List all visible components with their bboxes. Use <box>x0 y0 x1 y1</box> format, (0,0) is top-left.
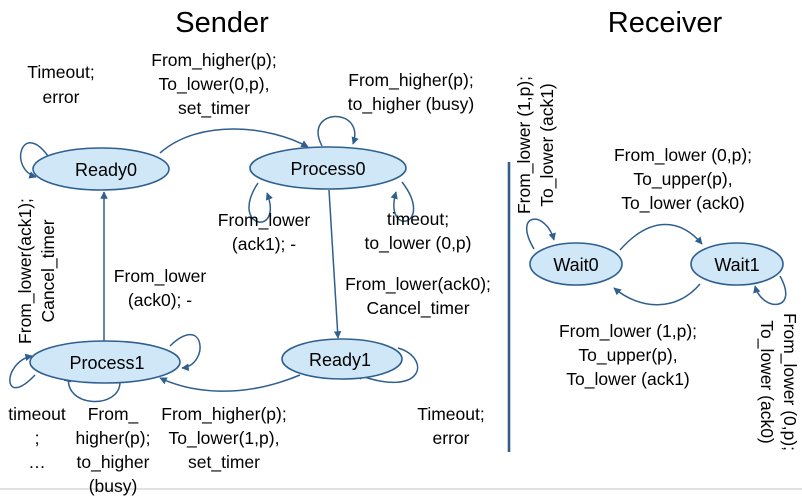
svg-text:To_lower(1,p),: To_lower(1,p), <box>169 428 280 449</box>
svg-text:To_lower (ack0): To_lower (ack0) <box>756 320 777 444</box>
svg-text:to_higher: to_higher <box>77 452 150 473</box>
svg-text:to_lower (0,p): to_lower (0,p) <box>365 233 472 254</box>
svg-text:From_lower (0,p);: From_lower (0,p); <box>779 313 800 451</box>
state-label-wait1: Wait1 <box>714 255 759 275</box>
edge-label-process1-self-left: timeout ; … <box>8 404 66 472</box>
svg-text:From_lower (1,p);: From_lower (1,p); <box>559 321 697 342</box>
arrow-ready1-to-process1 <box>160 375 300 391</box>
svg-text:From_lower(ack0);: From_lower(ack0); <box>345 274 491 295</box>
svg-text:set_timer: set_timer <box>188 452 260 473</box>
slide-canvas: Sender Receiver <box>0 0 802 501</box>
arrow-wait1-to-wait0 <box>614 284 700 305</box>
svg-text:To_upper(p),: To_upper(p), <box>633 169 732 190</box>
svg-text:To_lower (ack1): To_lower (ack1) <box>566 369 690 390</box>
arrow-process0-to-ready1 <box>329 190 338 338</box>
svg-text:timeout;: timeout; <box>387 209 449 229</box>
edge-label-process1-to-ready0-rotated: From_lower(ack1); Cancel_timer <box>15 198 59 344</box>
state-label-process1: Process1 <box>69 353 144 373</box>
edge-label-wait0-to-wait1: From_lower (0,p); To_upper(p), To_lower … <box>614 145 752 214</box>
edge-label-process1-to-ready0: From_lower (ack0); - <box>114 266 207 310</box>
svg-text:(ack1); -: (ack1); - <box>232 234 296 254</box>
edge-label-ready1-self: Timeout; error <box>417 404 484 448</box>
svg-text:Timeout;: Timeout; <box>417 404 484 424</box>
edge-label-wait1-self-rotated: From_lower (0,p); To_lower (ack0) <box>756 313 800 451</box>
svg-text:timeout: timeout <box>8 404 66 424</box>
svg-text:(busy): (busy) <box>89 476 138 496</box>
edge-label-ready0-to-process0: From_higher(p); To_lower(0,p), set_timer <box>151 50 276 119</box>
edge-label-process0-to-ready1: From_lower(ack0); Cancel_timer <box>345 274 491 319</box>
edge-label-process0-self-left: From_lower (ack1); - <box>218 210 311 254</box>
edge-label-ready1-to-process1: From_higher(p); To_lower(1,p), set_timer <box>161 404 286 473</box>
state-node-process1[interactable]: Process1 <box>30 341 180 383</box>
svg-text:higher(p);: higher(p); <box>76 428 151 448</box>
svg-text:From_higher(p);: From_higher(p); <box>161 404 286 425</box>
svg-text:error: error <box>43 87 80 107</box>
edge-label-ready0-self: Timeout; error <box>27 62 94 107</box>
svg-text:From_lower(ack1);: From_lower(ack1); <box>15 198 36 344</box>
svg-text:To_upper(p),: To_upper(p), <box>578 345 677 366</box>
state-label-wait0: Wait0 <box>553 255 598 275</box>
state-node-wait1[interactable]: Wait1 <box>691 243 783 285</box>
arrow-wait0-to-wait1 <box>620 224 702 250</box>
svg-text:From_lower (1,p);: From_lower (1,p); <box>514 76 535 214</box>
svg-text:Timeout;: Timeout; <box>27 62 94 82</box>
svg-text:to_higher (busy): to_higher (busy) <box>348 94 474 115</box>
svg-text:…: … <box>28 452 46 472</box>
svg-text:To_lower (ack0): To_lower (ack0) <box>621 193 745 214</box>
state-node-ready1[interactable]: Ready1 <box>282 339 402 379</box>
state-node-wait0[interactable]: Wait0 <box>530 243 622 285</box>
sender-title: Sender <box>175 7 269 39</box>
edge-label-process1-self-mid: From_ higher(p); to_higher (busy) <box>76 404 151 496</box>
edge-label-wait1-to-wait0: From_lower (1,p); To_upper(p), To_lower … <box>559 321 697 390</box>
svg-text:set_timer: set_timer <box>178 98 250 119</box>
svg-text:From_higher(p);: From_higher(p); <box>348 70 473 91</box>
svg-text:From_: From_ <box>88 404 139 425</box>
svg-text:From_lower: From_lower <box>218 210 311 231</box>
state-label-process0: Process0 <box>290 159 365 179</box>
svg-text:From_lower (0,p);: From_lower (0,p); <box>614 145 752 166</box>
svg-text:Cancel_timer: Cancel_timer <box>366 298 469 319</box>
svg-text:To_lower (ack1): To_lower (ack1) <box>537 83 558 207</box>
edge-label-wait0-self-rotated: From_lower (1,p); To_lower (ack1) <box>514 76 558 214</box>
state-node-ready0[interactable]: Ready0 <box>33 148 169 190</box>
svg-text:From_higher(p);: From_higher(p); <box>151 50 276 71</box>
svg-text:;: ; <box>35 428 40 448</box>
edge-label-process0-self-top: From_higher(p); to_higher (busy) <box>348 70 474 115</box>
state-node-process0[interactable]: Process0 <box>250 147 406 189</box>
state-label-ready0: Ready0 <box>75 160 137 180</box>
svg-text:(ack0); -: (ack0); - <box>128 290 192 310</box>
svg-text:From_lower: From_lower <box>114 266 207 287</box>
receiver-title: Receiver <box>608 7 723 39</box>
svg-text:error: error <box>433 428 470 448</box>
arrow-ready0-to-process0 <box>160 129 308 153</box>
arrow-wait0-self <box>527 219 554 249</box>
state-label-ready1: Ready1 <box>309 350 371 370</box>
arrow-process0-self-top <box>318 116 355 146</box>
edge-label-process0-self-right: timeout; to_lower (0,p) <box>365 209 472 254</box>
state-machine-diagram: Sender Receiver <box>0 0 802 501</box>
svg-text:To_lower(0,p),: To_lower(0,p), <box>159 74 270 95</box>
svg-text:Cancel_timer: Cancel_timer <box>38 219 59 322</box>
